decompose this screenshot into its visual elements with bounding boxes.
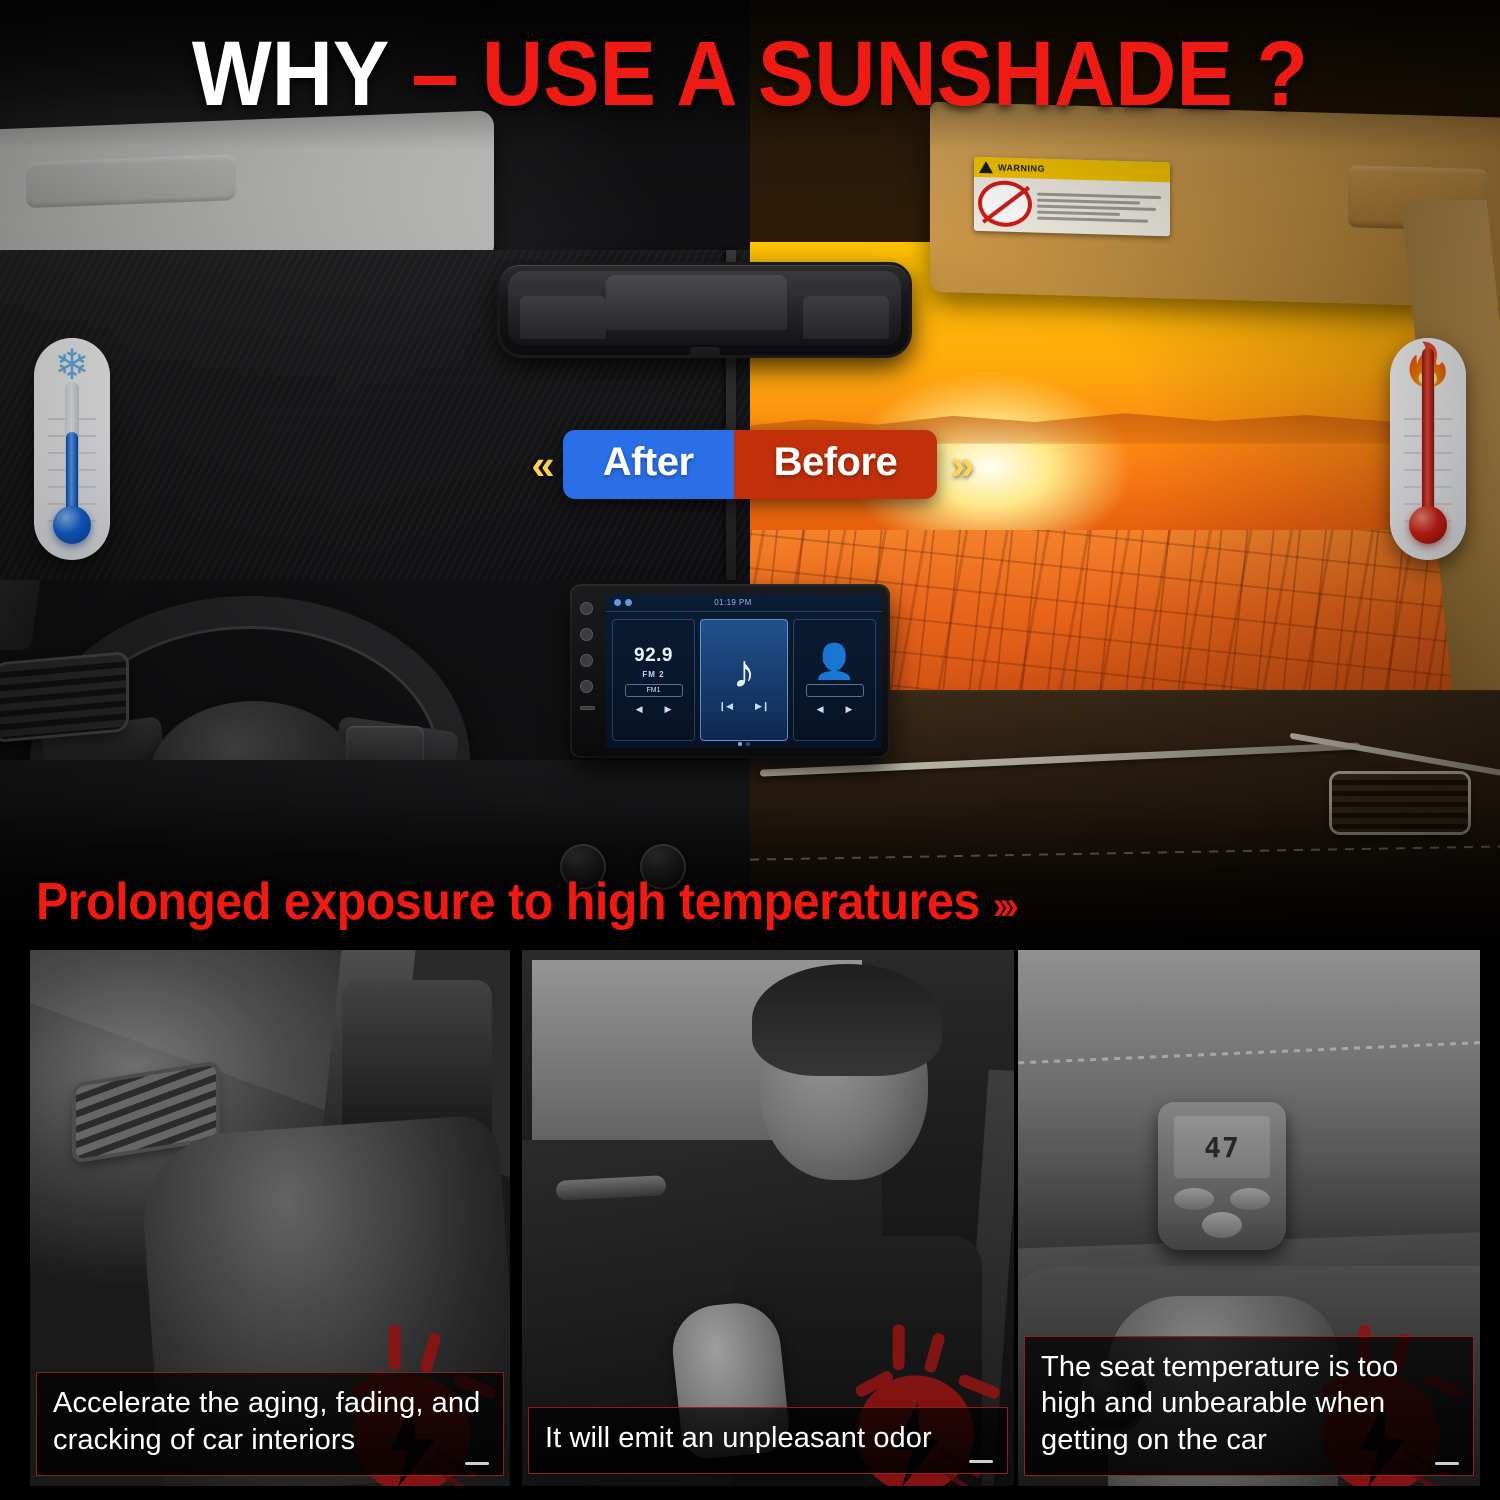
dash-chrome-trim-2 <box>1290 733 1500 778</box>
panel-3-caption-text: The seat temperature is too high and unb… <box>1041 1351 1398 1457</box>
page-title-red: – USE A SUNSHADE ? <box>411 23 1308 125</box>
mirror-reflection-seatback <box>606 275 787 330</box>
warning-sticker-label: WARNING <box>998 163 1045 174</box>
before-after-pill[interactable]: After Before <box>563 430 938 499</box>
phone-next-icon[interactable]: ▶ <box>846 704 853 715</box>
warning-sticker-text-lines <box>1037 182 1166 234</box>
product-infographic-page: WARNING <box>0 0 1500 1500</box>
rearview-mirror-glass <box>508 271 901 345</box>
consequence-panel-2: It will emit an unpleasant odor <box>522 950 1014 1486</box>
page-title-white: WHY <box>192 23 388 125</box>
consequence-panel-1: Accelerate the aging, fading, and cracki… <box>30 950 510 1486</box>
bluetooth-status <box>614 599 632 606</box>
page-dot-active[interactable] <box>738 742 742 746</box>
thermometer-bulb-cold <box>53 506 91 544</box>
rearview-mirror-stem <box>690 347 720 358</box>
panel-3-caption: The seat temperature is too high and unb… <box>1024 1336 1474 1476</box>
phone-card[interactable]: 👤 ◀ ▶ <box>793 619 876 741</box>
infotainment-cards: 92.9 FM 2 FM1 ◀ ▶ ♪ ❙◀ ▶❙ <box>606 612 882 748</box>
radio-band: FM 2 <box>642 670 664 679</box>
hero-comparison-section: WARNING <box>0 0 1500 950</box>
panel-2-caption-text: It will emit an unpleasant odor <box>545 1422 932 1454</box>
phone-prev-icon[interactable]: ◀ <box>817 704 824 715</box>
signal-icon <box>625 599 632 606</box>
radio-prev-icon[interactable]: ◀ <box>636 704 643 715</box>
subheading: Prolonged exposure to high temperatures›… <box>36 872 1013 932</box>
side-button-home[interactable] <box>580 602 593 615</box>
snowflake-icon: ❄ <box>54 344 89 386</box>
chevron-right-icon: » <box>951 444 968 486</box>
radio-card[interactable]: 92.9 FM 2 FM1 ◀ ▶ <box>612 619 695 741</box>
side-button-volume[interactable] <box>580 654 593 667</box>
page-dot-inactive[interactable] <box>746 742 750 746</box>
infotainment-status-bar: 01:19 PM <box>606 594 882 612</box>
airbag-warning-sticker: WARNING <box>974 157 1170 236</box>
mirror-reflection-seat-right <box>803 296 889 339</box>
dash-stitching <box>750 845 1500 860</box>
phone-status-pill[interactable] <box>806 684 864 697</box>
thermometer-reading: 47 <box>1174 1116 1270 1178</box>
consequence-panel-3: 47 <box>1018 950 1480 1486</box>
infotainment-head-unit[interactable]: 01:19 PM 92.9 FM 2 FM1 ◀ ▶ ♪ <box>572 586 888 756</box>
consequences-panel-row: Accelerate the aging, fading, and cracki… <box>0 950 1500 1500</box>
thermometer-bulb-hot <box>1409 506 1447 544</box>
dash-vent-right <box>1332 774 1468 832</box>
phone-nav-controls[interactable]: ◀ ▶ <box>817 704 853 715</box>
before-after-badge-group: « After Before » <box>0 430 1500 499</box>
warning-sticker-body <box>974 177 1170 236</box>
radio-frequency: 92.9 <box>634 645 673 667</box>
media-prev-icon[interactable]: ❙◀ <box>719 701 733 712</box>
infotainment-clock: 01:19 PM <box>714 598 751 607</box>
radio-preset-pill[interactable]: FM1 <box>625 684 683 697</box>
side-button-power[interactable] <box>580 706 595 710</box>
thermometer-button-3 <box>1202 1212 1242 1238</box>
chevron-left-icon: « <box>531 444 548 486</box>
subheading-arrows-icon: ››› <box>993 884 1013 928</box>
man-covering-nose-photo <box>522 950 1014 1486</box>
thermometer-button-2 <box>1230 1188 1270 1210</box>
dash-vent-left <box>0 654 126 739</box>
radio-next-icon[interactable]: ▶ <box>665 704 672 715</box>
after-badge[interactable]: After <box>563 430 734 499</box>
side-button-menu[interactable] <box>580 628 593 641</box>
media-transport-controls[interactable]: ❙◀ ▶❙ <box>719 701 770 712</box>
user-profile-icon: 👤 <box>813 645 855 679</box>
before-badge[interactable]: Before <box>734 430 938 499</box>
caption-dash-icon <box>465 1462 489 1465</box>
infrared-thermometer-device: 47 <box>1158 1102 1286 1250</box>
thermometer-button-1 <box>1174 1188 1214 1210</box>
page-title: WHY – USE A SUNSHADE ? <box>60 28 1440 120</box>
panel-1-caption-text: Accelerate the aging, fading, and cracki… <box>53 1387 480 1456</box>
subheading-text: Prolonged exposure to high temperatures <box>36 873 980 931</box>
rearview-mirror <box>497 262 912 358</box>
media-card[interactable]: ♪ ❙◀ ▶❙ <box>700 619 788 741</box>
radio-seek-controls[interactable]: ◀ ▶ <box>636 704 672 715</box>
screen-page-dots[interactable] <box>738 742 750 746</box>
panel-2-caption: It will emit an unpleasant odor <box>528 1407 1008 1474</box>
infotainment-side-buttons[interactable] <box>580 602 595 710</box>
media-next-icon[interactable]: ▶❙ <box>755 701 769 712</box>
caption-dash-icon <box>1435 1462 1459 1465</box>
caption-dash-icon <box>969 1460 993 1463</box>
panel-1-caption: Accelerate the aging, fading, and cracki… <box>36 1372 504 1476</box>
no-child-seat-icon <box>978 180 1032 228</box>
bluetooth-icon <box>614 599 621 606</box>
warning-triangle-icon <box>979 161 993 173</box>
mirror-reflection-seat-left <box>520 296 606 339</box>
music-note-icon: ♪ <box>733 648 756 694</box>
side-button-seek[interactable] <box>580 680 593 693</box>
photo2-man-hair <box>752 964 942 1076</box>
infotainment-screen[interactable]: 01:19 PM 92.9 FM 2 FM1 ◀ ▶ ♪ <box>606 594 882 748</box>
